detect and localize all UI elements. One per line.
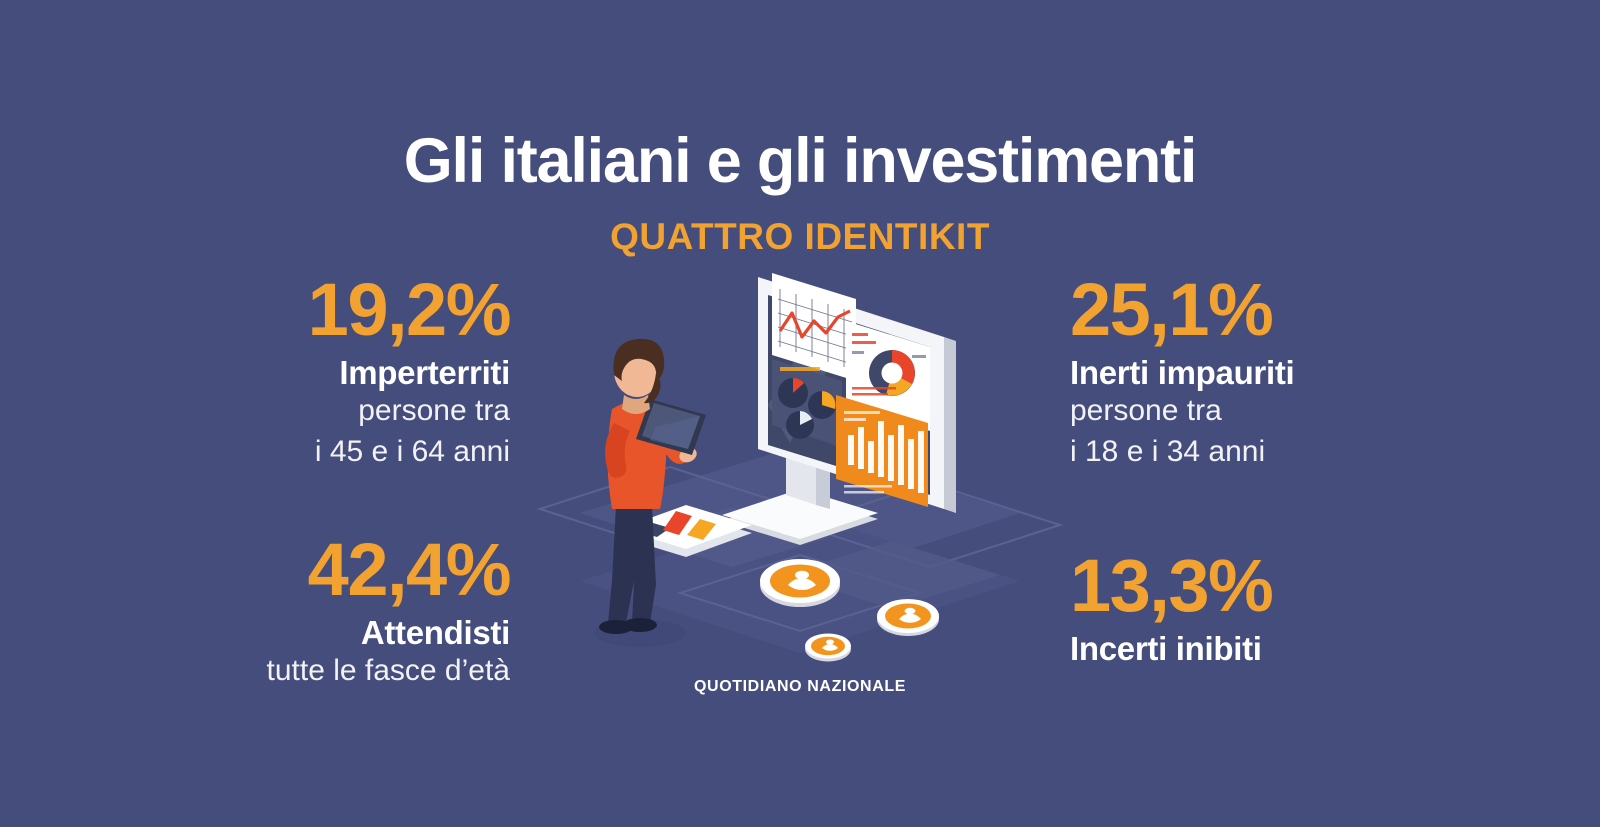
page-title: Gli italiani e gli investimenti	[0, 128, 1600, 194]
isometric-analytics-illustration	[500, 255, 1100, 695]
stat-block-inerti-impauriti: 25,1% Inerti impauriti persone tra i 18 …	[1070, 272, 1470, 471]
pie-chart-bottom	[786, 411, 814, 439]
stat-description: i 45 e i 64 anni	[130, 434, 510, 471]
stat-description: persone tra	[130, 393, 510, 430]
stat-percent: 19,2%	[130, 272, 510, 347]
user-coin-medium	[877, 599, 939, 636]
stat-label: Attendisti	[130, 616, 510, 649]
neck	[622, 395, 650, 414]
trousers	[608, 505, 656, 623]
stat-description: i 18 e i 34 anni	[1070, 434, 1470, 471]
user-coin-small	[805, 634, 851, 662]
stat-label: Imperterriti	[130, 356, 510, 389]
stat-percent: 13,3%	[1070, 548, 1470, 623]
stat-block-attendisti: 42,4% Attendisti tutte le fasce d’età	[130, 532, 510, 690]
pie-chart-top	[778, 378, 808, 408]
monitor-bezel-side	[944, 337, 956, 513]
stat-percent: 42,4%	[130, 532, 510, 607]
infographic-canvas: Gli italiani e gli investimenti QUATTRO …	[0, 0, 1600, 827]
page-subtitle: QUATTRO IDENTIKIT	[0, 216, 1600, 258]
stat-label: Inerti impauriti	[1070, 356, 1470, 389]
desktop-monitor	[722, 273, 956, 545]
user-coin-large	[760, 559, 840, 607]
stat-percent: 25,1%	[1070, 272, 1470, 347]
stat-description: persone tra	[1070, 393, 1470, 430]
stat-block-imperterriti: 19,2% Imperterriti persone tra i 45 e i …	[130, 272, 510, 471]
stat-block-incerti-inibiti: 13,3% Incerti inibiti	[1070, 548, 1470, 665]
source-credit: QUOTIDIANO NAZIONALE	[0, 678, 1600, 696]
pie-chart-right	[808, 391, 836, 419]
shoe-left	[599, 620, 633, 634]
stat-label: Incerti inibiti	[1070, 632, 1470, 665]
